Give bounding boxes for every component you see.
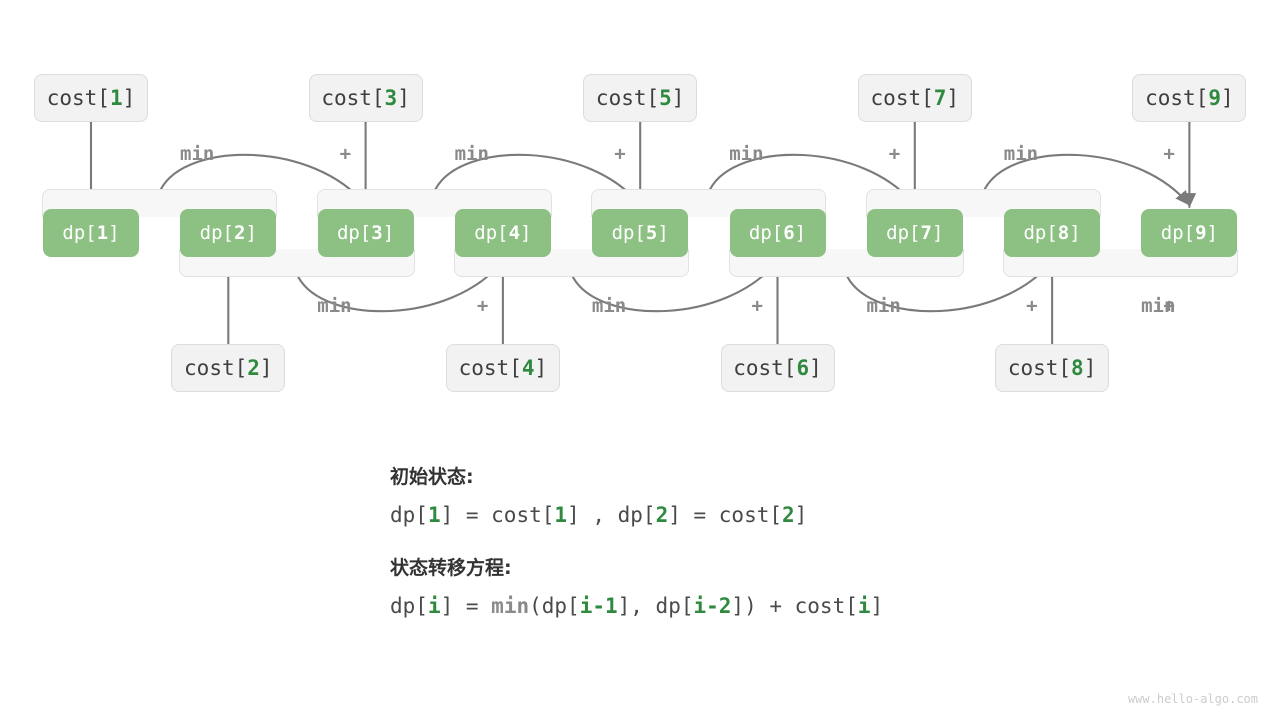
dp-cell-name: dp[ [200, 222, 234, 244]
cost-cell-name: cost[ [1008, 356, 1071, 380]
formula-segment: 1 [554, 503, 567, 527]
formula-segment: ]) + cost[ [731, 594, 857, 618]
formula-segment: 1 [428, 503, 441, 527]
dp-cell-name: dp[ [337, 222, 371, 244]
dp-cell-name: dp[ [62, 222, 96, 244]
cost-cell-7: cost[7] [858, 74, 972, 122]
dp-cell-index: 1 [97, 222, 108, 244]
plus-label-top-2: + [889, 143, 900, 165]
cost-cell-9: cost[9] [1132, 74, 1246, 122]
cost-cell-index: 2 [247, 356, 260, 380]
formula-block: 初始状态: dp[1] = cost[1] , dp[2] = cost[2] … [390, 462, 1090, 618]
cost-cell-name: cost[ [733, 356, 796, 380]
dp-cell-bracket-close: ] [245, 222, 256, 244]
cost-cell-name: cost[ [596, 86, 659, 110]
formula-segment: ] [871, 594, 884, 618]
min-label-top-1: min [455, 143, 489, 165]
plus-label-top-3: + [1163, 143, 1174, 165]
cost-cell-name: cost[ [47, 86, 110, 110]
dp-cell-name: dp[ [1161, 222, 1195, 244]
cost-cell-bracket-close: ] [672, 86, 685, 110]
plus-label-bottom-3: + [1163, 295, 1174, 317]
plus-label-top-0: + [340, 143, 351, 165]
dp-cell-index: 9 [1195, 222, 1206, 244]
dp-cell-3: dp[3] [318, 209, 414, 257]
plus-label-bottom-2: + [1026, 295, 1037, 317]
min-label-top-3: min [1004, 143, 1038, 165]
min-label-bottom-0: min [317, 295, 351, 317]
formula-segment: i-1 [580, 594, 618, 618]
cost-cell-index: 6 [796, 356, 809, 380]
cost-cell-bracket-close: ] [809, 356, 822, 380]
dp-cell-1: dp[1] [43, 209, 139, 257]
plus-label-bottom-0: + [477, 295, 488, 317]
formula-segment: ] = [441, 594, 492, 618]
dp-cell-name: dp[ [474, 222, 508, 244]
min-label-top-2: min [729, 143, 763, 165]
formula-segment: i-2 [693, 594, 731, 618]
formula-segment: dp[ [390, 594, 428, 618]
dp-cell-name: dp[ [1023, 222, 1057, 244]
dp-cell-bracket-close: ] [108, 222, 119, 244]
cost-cell-name: cost[ [321, 86, 384, 110]
transition-equation-formula: dp[i] = min(dp[i-1], dp[i-2]) + cost[i] [390, 594, 1090, 618]
cost-cell-bracket-close: ] [260, 356, 273, 380]
formula-segment: ] = cost[ [668, 503, 782, 527]
cost-cell-index: 9 [1208, 86, 1221, 110]
cost-cell-index: 3 [385, 86, 398, 110]
cost-cell-5: cost[5] [583, 74, 697, 122]
formula-segment: i [428, 594, 441, 618]
min-label-bottom-1: min [592, 295, 626, 317]
cost-cell-name: cost[ [871, 86, 934, 110]
formula-segment: ] , dp[ [567, 503, 656, 527]
dp-cell-index: 4 [509, 222, 520, 244]
cost-cell-bracket-close: ] [123, 86, 136, 110]
cost-cell-index: 1 [110, 86, 123, 110]
formula-segment: 2 [782, 503, 795, 527]
min-label-bottom-2: min [867, 295, 901, 317]
cost-cell-index: 5 [659, 86, 672, 110]
dp-cell-name: dp[ [749, 222, 783, 244]
dp-cell-5: dp[5] [592, 209, 688, 257]
dp-cell-bracket-close: ] [795, 222, 806, 244]
dp-cell-bracket-close: ] [657, 222, 668, 244]
dp-cell-7: dp[7] [867, 209, 963, 257]
dp-cell-4: dp[4] [455, 209, 551, 257]
cost-cell-bracket-close: ] [1221, 86, 1234, 110]
dp-cell-bracket-close: ] [932, 222, 943, 244]
dp-cell-bracket-close: ] [383, 222, 394, 244]
cost-cell-name: cost[ [459, 356, 522, 380]
dp-cell-index: 2 [234, 222, 245, 244]
cost-cell-3: cost[3] [309, 74, 423, 122]
cost-cell-index: 8 [1071, 356, 1084, 380]
cost-cell-1: cost[1] [34, 74, 148, 122]
dp-cell-2: dp[2] [180, 209, 276, 257]
dp-cell-bracket-close: ] [1207, 222, 1218, 244]
dp-cell-index: 6 [783, 222, 794, 244]
formula-segment: i [858, 594, 871, 618]
dp-cell-9: dp[9] [1141, 209, 1237, 257]
cost-cell-index: 4 [522, 356, 535, 380]
dp-cell-name: dp[ [612, 222, 646, 244]
formula-segment: ] = cost[ [441, 503, 555, 527]
cost-cell-name: cost[ [1145, 86, 1208, 110]
dp-cell-name: dp[ [886, 222, 920, 244]
initial-state-formula: dp[1] = cost[1] , dp[2] = cost[2] [390, 503, 1090, 527]
dp-cell-6: dp[6] [730, 209, 826, 257]
initial-state-heading: 初始状态: [390, 462, 1090, 489]
dp-cell-bracket-close: ] [1069, 222, 1080, 244]
cost-cell-index: 7 [934, 86, 947, 110]
formula-segment: 2 [656, 503, 669, 527]
plus-label-top-1: + [614, 143, 625, 165]
dp-cell-index: 8 [1058, 222, 1069, 244]
formula-segment: (dp[ [529, 594, 580, 618]
dp-cell-index: 5 [646, 222, 657, 244]
dp-cell-bracket-close: ] [520, 222, 531, 244]
cost-cell-8: cost[8] [995, 344, 1109, 392]
plus-label-bottom-1: + [752, 295, 763, 317]
watermark: www.hello-algo.com [1128, 692, 1258, 706]
min-label-top-0: min [180, 143, 214, 165]
cost-cell-name: cost[ [184, 356, 247, 380]
cost-cell-6: cost[6] [721, 344, 835, 392]
transition-equation-heading: 状态转移方程: [390, 553, 1090, 580]
cost-cell-bracket-close: ] [946, 86, 959, 110]
dp-cell-index: 7 [921, 222, 932, 244]
cost-cell-bracket-close: ] [397, 86, 410, 110]
formula-segment: dp[ [390, 503, 428, 527]
cost-cell-bracket-close: ] [535, 356, 548, 380]
formula-segment: ], dp[ [618, 594, 694, 618]
cost-cell-4: cost[4] [446, 344, 560, 392]
dp-cell-index: 3 [371, 222, 382, 244]
cost-cell-2: cost[2] [171, 344, 285, 392]
formula-segment: ] [795, 503, 808, 527]
formula-segment: min [491, 594, 529, 618]
dp-cell-8: dp[8] [1004, 209, 1100, 257]
cost-cell-bracket-close: ] [1084, 356, 1097, 380]
